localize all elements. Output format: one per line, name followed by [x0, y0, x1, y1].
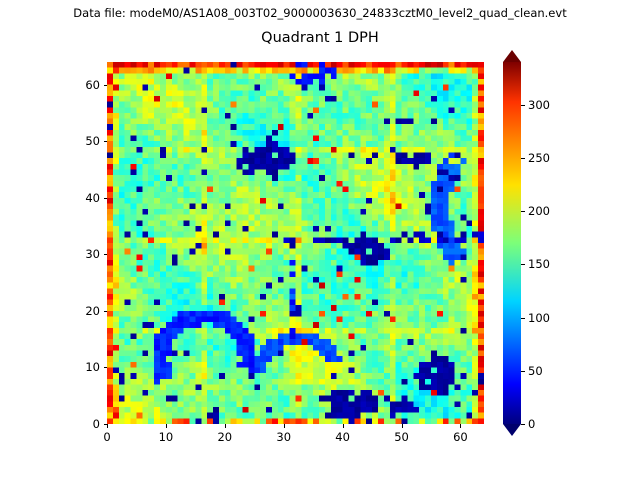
y-tick-label: 20: [67, 304, 100, 318]
colorbar-tick-mark: [521, 318, 525, 319]
x-tick-label: 30: [270, 430, 298, 444]
x-tick-mark: [460, 424, 461, 428]
x-tick-mark: [343, 424, 344, 428]
colorbar-tick-label: 50: [528, 364, 543, 378]
y-tick-mark: [104, 198, 108, 199]
x-tick-label: 0: [93, 430, 121, 444]
x-tick-label: 50: [388, 430, 416, 444]
colorbar-tick-label: 0: [528, 417, 535, 431]
heatmap-axes: [107, 62, 484, 424]
colorbar-tick-mark: [521, 211, 525, 212]
colorbar-tick-mark: [521, 158, 525, 159]
x-tick-label: 10: [152, 430, 180, 444]
x-tick-mark: [107, 424, 108, 428]
y-tick-label: 10: [67, 360, 100, 374]
x-tick-mark: [225, 424, 226, 428]
colorbar-tick-label: 150: [528, 257, 550, 271]
colorbar-tick-label: 300: [528, 98, 550, 112]
x-tick-mark: [284, 424, 285, 428]
y-tick-label: 50: [67, 134, 100, 148]
y-tick-mark: [104, 254, 108, 255]
x-tick-label: 20: [211, 430, 239, 444]
detector-heatmap-image: [107, 62, 484, 424]
x-tick-mark: [402, 424, 403, 428]
x-tick-label: 60: [446, 430, 474, 444]
x-tick-mark: [166, 424, 167, 428]
matplotlib-figure: Data file: modeM0/AS1A08_003T02_90000036…: [0, 0, 640, 480]
x-tick-label: 40: [329, 430, 357, 444]
colorbar-tick-mark: [521, 424, 525, 425]
y-tick-label: 0: [67, 417, 100, 431]
colorbar-tick-label: 200: [528, 204, 550, 218]
y-tick-mark: [104, 367, 108, 368]
y-tick-mark: [104, 141, 108, 142]
colorbar-tick-mark: [521, 264, 525, 265]
colorbar: 050100150200250300: [503, 50, 593, 438]
colorbar-tick-mark: [521, 371, 525, 372]
y-tick-label: 60: [67, 78, 100, 92]
page-title: Quadrant 1 DPH: [0, 30, 640, 46]
colorbar-tick-mark: [521, 105, 525, 106]
y-tick-mark: [104, 85, 108, 86]
colorbar-tick-label: 100: [528, 311, 550, 325]
y-tick-label: 30: [67, 247, 100, 261]
y-tick-mark: [104, 424, 108, 425]
y-tick-label: 40: [67, 191, 100, 205]
data-file-suptitle: Data file: modeM0/AS1A08_003T02_90000036…: [0, 6, 640, 20]
y-tick-mark: [104, 311, 108, 312]
colorbar-tick-label: 250: [528, 151, 550, 165]
